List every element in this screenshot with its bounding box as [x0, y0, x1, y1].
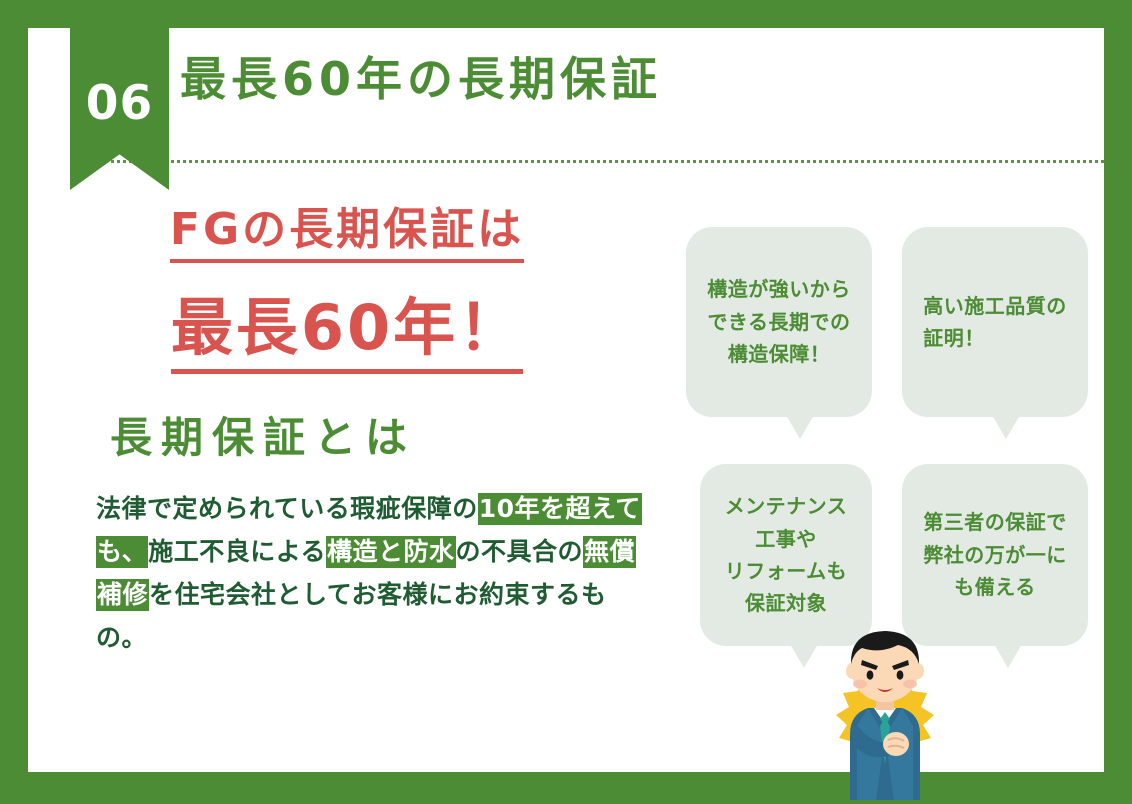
bubble-tail-icon — [994, 644, 1022, 668]
speech-bubble-text: 構造が強いからできる長期での構造保障！ — [707, 273, 851, 370]
page-title: 最長60年の長期保証 — [180, 54, 662, 105]
speech-bubble-text: 高い施工品質の証明！ — [923, 290, 1067, 355]
header-dotted-divider — [70, 160, 1104, 163]
bubble-tail-icon — [992, 415, 1020, 439]
slide-header: 最長60年の長期保証 — [28, 28, 1104, 160]
body-text-run: の不具合の — [456, 537, 584, 566]
speech-bubble-line: 高い施工品質の — [923, 290, 1067, 322]
speech-bubble-structure: 構造が強いからできる長期での構造保障！ — [686, 227, 872, 417]
speech-bubble-line: 構造が強いから — [707, 273, 851, 305]
speech-bubble-line: できる長期での — [707, 306, 851, 338]
speech-bubble-line: 弊社の万が一に — [923, 539, 1067, 571]
slide-root: 最長60年の長期保証 06 FGの長期保証は 最長60年！ 長期保証とは 法律で… — [0, 0, 1132, 800]
speech-bubble-line: も備える — [923, 571, 1067, 603]
section-number-label: 06 — [86, 80, 153, 127]
speech-bubble-line: 構造保障！ — [707, 338, 851, 370]
speech-bubble-text: 第三者の保証で弊社の万が一にも備える — [923, 506, 1067, 603]
body-text-run: 法律で定められている瑕疵保障の — [96, 494, 478, 523]
body-paragraph: 法律で定められている瑕疵保障の10年を超えても、施工不良による構造と防水の不具合… — [96, 487, 656, 659]
body-text-run: を住宅会社としてお客様にお約束するもの。 — [96, 580, 607, 652]
headline-line-2: 最長60年！ — [171, 277, 523, 374]
bubble-tail-icon — [786, 415, 814, 439]
sub-heading: 長期保証とは — [110, 404, 658, 465]
section-number-ribbon: 06 — [70, 28, 169, 190]
slide-canvas: 最長60年の長期保証 06 FGの長期保証は 最長60年！ 長期保証とは 法律で… — [28, 28, 1104, 772]
left-content-column: FGの長期保証は 最長60年！ 長期保証とは 法律で定められている瑕疵保障の10… — [78, 193, 658, 659]
speech-bubble-line: リフォームも — [725, 555, 848, 587]
speech-bubble-quality: 高い施工品質の証明！ — [902, 227, 1088, 417]
speech-bubble-line: 証明！ — [923, 322, 1067, 354]
speech-bubble-line: 工事や — [725, 523, 848, 555]
body-text-run: 施工不良による — [148, 537, 326, 566]
speech-bubble-line: 第三者の保証で — [923, 506, 1067, 538]
highlighted-text: 構造と防水 — [326, 536, 456, 568]
speech-bubble-text: メンテナンス工事やリフォームも保証対象 — [725, 490, 848, 620]
speech-bubble-line: メンテナンス — [725, 490, 848, 522]
headline-line-1: FGの長期保証は — [170, 193, 524, 263]
red-headline-block: FGの長期保証は 最長60年！ — [78, 193, 598, 374]
confident-businessman-illustration — [810, 614, 960, 800]
